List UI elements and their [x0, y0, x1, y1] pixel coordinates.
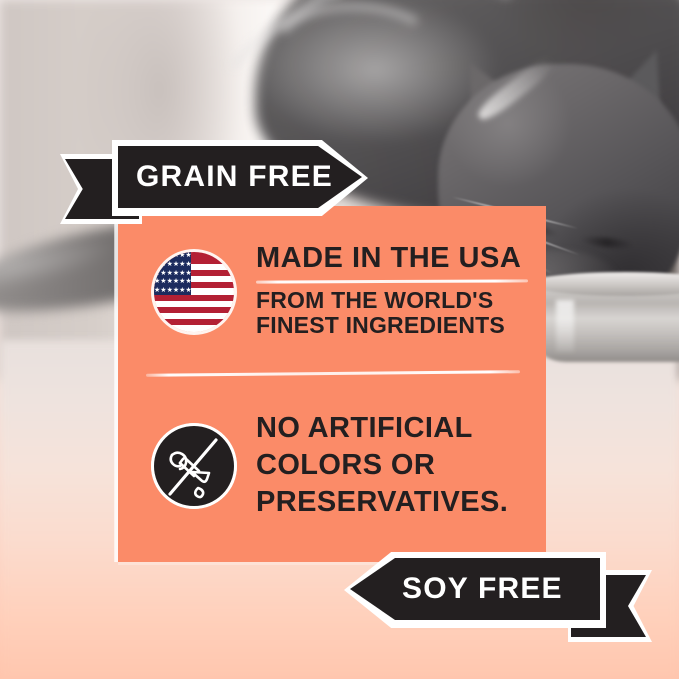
usa-headline: MADE IN THE USA	[256, 244, 528, 274]
section-divider	[146, 370, 520, 377]
claims-panel: ★★★★★★ ★★★★★★ ★★★★★★ ★★★★★★ ★★★★★★ MADE …	[118, 206, 546, 562]
ribbon-plate: SOY FREE	[350, 558, 600, 620]
product-marketing-image: ★★★★★★ ★★★★★★ ★★★★★★ ★★★★★★ ★★★★★★ MADE …	[0, 0, 679, 679]
usa-subline-1: FROM THE WORLD'S	[256, 288, 528, 314]
soy-free-label: SOY FREE	[402, 572, 563, 606]
badge-soy-free: SOY FREE	[348, 558, 650, 620]
badge-grain-free: GRAIN FREE	[62, 146, 362, 208]
no-artificial-line-1: NO ARTIFICIAL	[256, 410, 508, 447]
dropper-glyph	[154, 426, 234, 506]
feature-text: NO ARTIFICIAL COLORS OR PRESERVATIVES.	[256, 410, 508, 521]
no-artificial-line-2: COLORS OR	[256, 447, 508, 484]
feature-no-artificial: NO ARTIFICIAL COLORS OR PRESERVATIVES.	[154, 410, 508, 521]
no-artificial-line-3: PRESERVATIVES.	[256, 484, 508, 521]
headline-underline	[256, 279, 528, 283]
usa-flag-icon: ★★★★★★ ★★★★★★ ★★★★★★ ★★★★★★ ★★★★★★	[154, 252, 234, 332]
feature-text: MADE IN THE USA FROM THE WORLD'S FINEST …	[256, 244, 528, 339]
flag-canton: ★★★★★★ ★★★★★★ ★★★★★★ ★★★★★★ ★★★★★★	[154, 252, 191, 295]
no-dropper-circle	[154, 426, 234, 506]
grain-free-label: GRAIN FREE	[136, 160, 333, 194]
ribbon-plate: GRAIN FREE	[118, 146, 362, 208]
usa-flag-graphic: ★★★★★★ ★★★★★★ ★★★★★★ ★★★★★★ ★★★★★★	[154, 252, 234, 332]
food-bowl-highlight	[556, 300, 574, 352]
usa-subline-2: FINEST INGREDIENTS	[256, 313, 528, 339]
no-dropper-icon	[154, 426, 234, 506]
feature-made-in-usa: ★★★★★★ ★★★★★★ ★★★★★★ ★★★★★★ ★★★★★★ MADE …	[154, 244, 528, 339]
